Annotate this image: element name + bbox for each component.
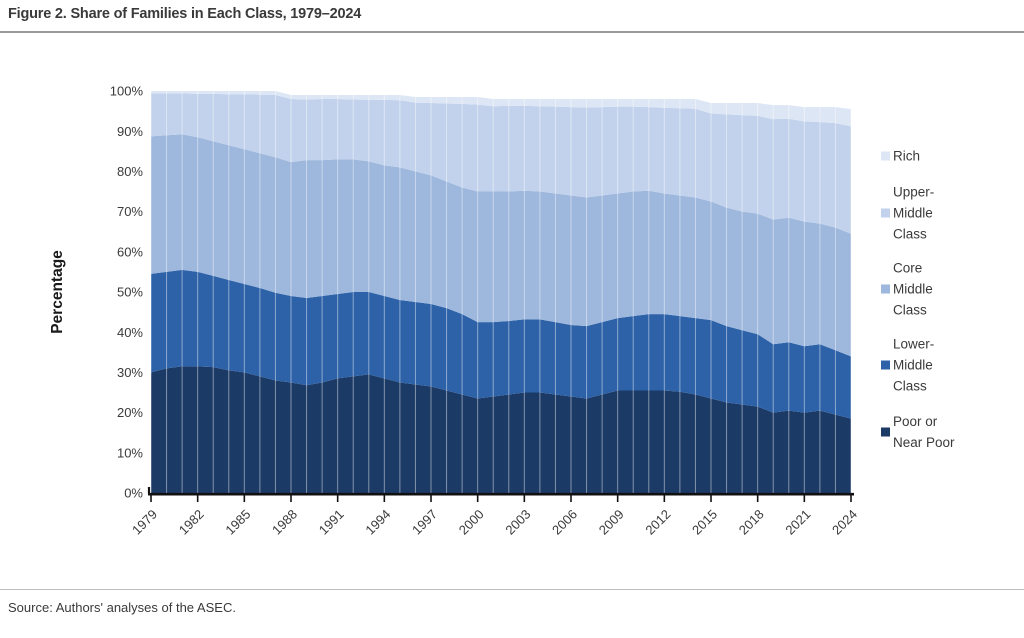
legend: RichUpper-MiddleClassCoreMiddleClassLowe…: [881, 149, 955, 451]
y-tick-label: 50%: [117, 285, 143, 300]
legend-label-line: Core: [893, 261, 922, 276]
x-tick-label: 2009: [596, 507, 627, 538]
legend-swatch: [881, 152, 890, 161]
y-axis-title: Percentage: [49, 250, 66, 334]
legend-item-rich[interactable]: Rich: [881, 149, 920, 164]
y-tick-label: 70%: [117, 204, 143, 219]
chart-canvas: Percentage0%10%20%30%40%50%60%70%80%90%1…: [0, 36, 1024, 566]
legend-item-lower-middle-class[interactable]: Lower-MiddleClass: [881, 337, 934, 394]
legend-item-upper-middle-class[interactable]: Upper-MiddleClass: [881, 185, 934, 242]
y-tick-label: 30%: [117, 365, 143, 380]
legend-label-line: Middle: [893, 282, 933, 297]
legend-label-line: Class: [893, 227, 927, 242]
y-tick-label: 20%: [117, 405, 143, 420]
footer-divider: [0, 589, 1024, 590]
source-note: Source: Authors' analyses of the ASEC.: [8, 600, 236, 615]
x-tick-label: 1997: [409, 507, 440, 538]
y-tick-label: 0%: [124, 486, 143, 501]
legend-swatch: [881, 361, 890, 370]
x-tick-label: 2021: [782, 507, 813, 538]
x-tick-label: 2024: [829, 507, 860, 538]
x-tick-label: 2018: [736, 507, 767, 538]
x-tick-label: 1991: [316, 507, 347, 538]
legend-swatch: [881, 428, 890, 437]
legend-label-line: Rich: [893, 149, 920, 164]
y-tick-label: 40%: [117, 325, 143, 340]
x-tick-label: 2012: [642, 507, 673, 538]
legend-label-line: Class: [893, 303, 927, 318]
legend-label-line: Class: [893, 379, 927, 394]
x-tick-label: 2000: [456, 507, 487, 538]
x-tick-label: 1994: [362, 507, 393, 538]
area-series-group: [151, 91, 851, 493]
legend-item-core-middle-class[interactable]: CoreMiddleClass: [881, 261, 933, 318]
y-tick-label: 100%: [110, 84, 144, 99]
x-tick-label: 2015: [689, 507, 720, 538]
page-title: Figure 2. Share of Families in Each Clas…: [8, 6, 1008, 22]
x-tick-label: 1988: [269, 507, 300, 538]
legend-label-line: Middle: [893, 206, 933, 221]
legend-item-poor-or-near-poor[interactable]: Poor orNear Poor: [881, 414, 955, 450]
y-tick-label: 60%: [117, 244, 143, 259]
y-tick-label: 10%: [117, 445, 143, 460]
y-tick-label: 80%: [117, 164, 143, 179]
legend-label-line: Middle: [893, 358, 933, 373]
legend-label-line: Near Poor: [893, 435, 955, 450]
x-tick-label: 1985: [222, 507, 253, 538]
legend-label-line: Lower-: [893, 337, 934, 352]
x-tick-label: 1979: [129, 507, 160, 538]
y-tick-labels: 0%10%20%30%40%50%60%70%80%90%100%: [110, 84, 144, 501]
legend-swatch: [881, 209, 890, 218]
y-tick-label: 90%: [117, 124, 143, 139]
x-tick-labels: 1979198219851988199119941997200020032006…: [129, 507, 860, 538]
stacked-area-chart: Percentage0%10%20%30%40%50%60%70%80%90%1…: [0, 36, 1024, 566]
x-tick-label: 1982: [176, 507, 207, 538]
legend-label-line: Upper-: [893, 185, 934, 200]
x-tick-label: 2006: [549, 507, 580, 538]
title-divider: [0, 31, 1024, 33]
legend-swatch: [881, 285, 890, 294]
x-tick-label: 2003: [502, 507, 533, 538]
legend-label-line: Poor or: [893, 414, 938, 429]
